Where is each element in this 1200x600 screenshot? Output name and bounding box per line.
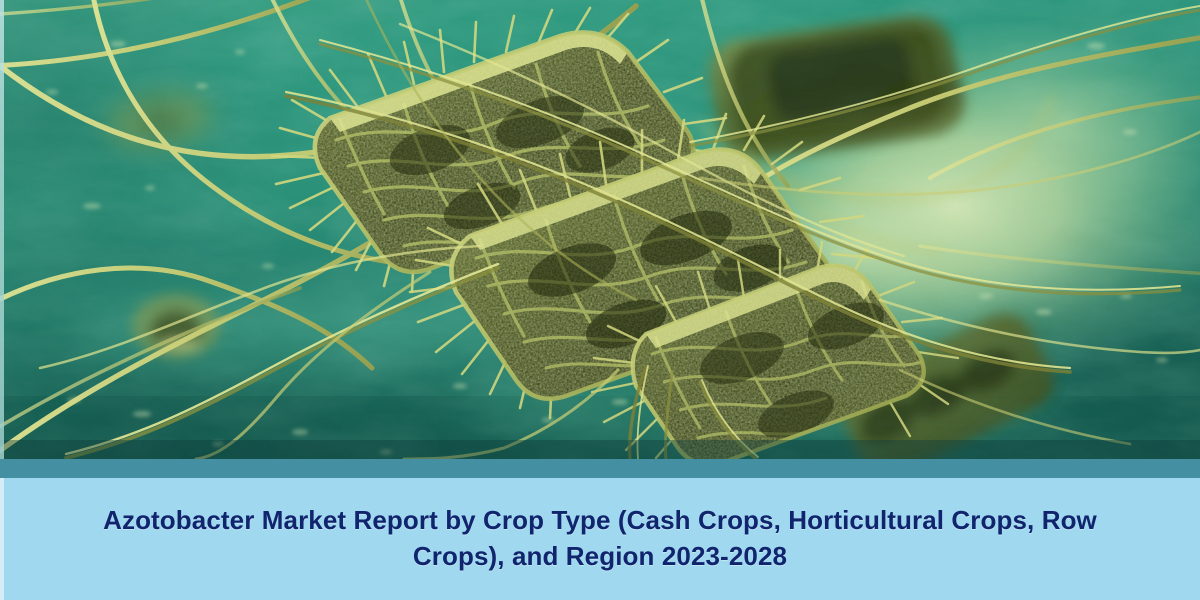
caption-left-edge [0,478,4,600]
azotobacter-micrograph-image [0,0,1200,459]
report-thumbnail-page: Azotobacter Market Report by Crop Type (… [0,0,1200,600]
teal-divider-band [0,459,1200,478]
caption-banner: Azotobacter Market Report by Crop Type (… [0,478,1200,600]
report-title: Azotobacter Market Report by Crop Type (… [70,502,1130,574]
